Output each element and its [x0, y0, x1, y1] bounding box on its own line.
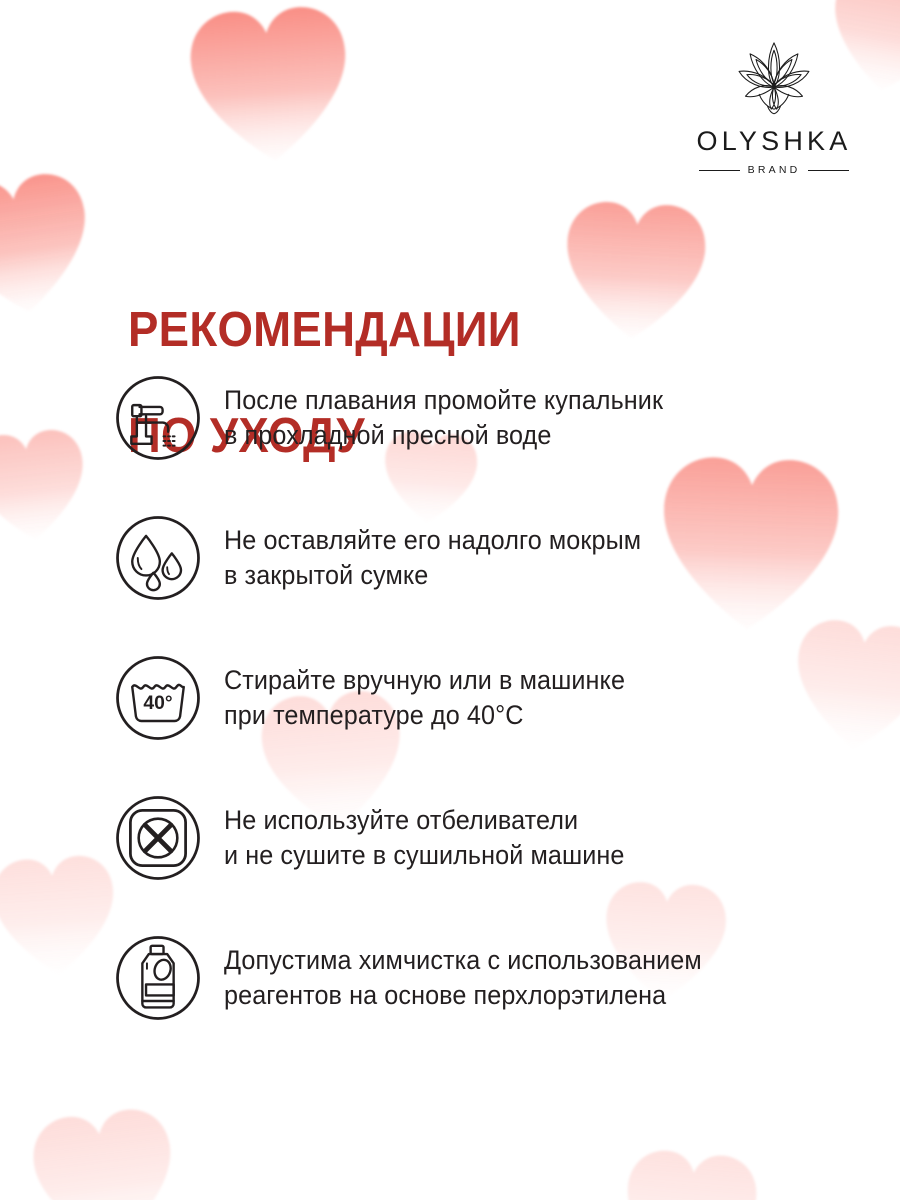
detergent-bottle-icon	[112, 932, 204, 1024]
water-droplets-icon	[112, 512, 204, 604]
care-instruction-row: 40°Стирайте вручную или в машинкепри тем…	[112, 648, 852, 748]
care-instruction-text: Стирайте вручную или в машинкепри темпер…	[224, 663, 625, 733]
care-instruction-line-2: в закрытой сумке	[224, 558, 641, 593]
care-instruction-row: Не оставляйте его надолго мокрымв закрыт…	[112, 508, 852, 608]
brand-wordmark: OLYSHKA	[697, 126, 852, 157]
care-instruction-line-1: Допустима химчистка с использованием	[224, 943, 702, 978]
care-instruction-line-2: в прохладной пресной воде	[224, 418, 663, 453]
care-instruction-text: Не используйте отбеливателии не сушите в…	[224, 803, 625, 873]
care-instruction-line-2: реагентов на основе перхлорэтилена	[224, 978, 702, 1013]
faucet-icon	[112, 372, 204, 464]
page-title-line-1: РЕКОМЕНДАЦИИ	[128, 304, 521, 357]
heart-left-mid-decoration	[0, 424, 96, 548]
tagline-rule-right	[808, 170, 849, 171]
care-instruction-line-1: Стирайте вручную или в машинке	[224, 663, 625, 698]
no-bleach-no-tumble-dry-icon	[112, 792, 204, 884]
care-instructions-page: OLYSHKA BRAND РЕКОМЕНДАЦИИ ПО УХОДУ Посл…	[0, 0, 900, 1200]
care-instruction-line-1: После плавания промойте купальник	[224, 383, 663, 418]
care-instruction-list: После плавания промойте купальникв прохл…	[112, 368, 852, 1028]
care-instruction-text: Не оставляйте его надолго мокрымв закрыт…	[224, 523, 641, 593]
heart-bottom-left-decoration	[22, 1101, 188, 1200]
svg-text:40°: 40°	[143, 693, 172, 714]
tagline-rule-left	[699, 170, 740, 171]
wash-tub-40-icon: 40°	[112, 652, 204, 744]
care-instruction-text: После плавания промойте купальникв прохл…	[224, 383, 663, 453]
care-instruction-row: Не используйте отбеливателии не сушите в…	[112, 788, 852, 888]
care-instruction-text: Допустима химчистка с использованиемреаг…	[224, 943, 702, 1013]
heart-left-low-decoration	[0, 851, 124, 982]
care-instruction-line-1: Не оставляйте его надолго мокрым	[224, 523, 641, 558]
care-instruction-row: Допустима химчистка с использованиемреаг…	[112, 928, 852, 1028]
care-instruction-row: После плавания промойте купальникв прохл…	[112, 368, 852, 468]
brand-logo: OLYSHKA BRAND	[684, 30, 864, 176]
heart-top-right-decoration	[556, 196, 713, 346]
heart-bottom-center-decoration	[615, 1144, 766, 1200]
heart-top-left-decoration	[0, 165, 104, 325]
care-instruction-line-2: и не сушите в сушильной машине	[224, 838, 625, 873]
heart-top-center-decoration	[181, 0, 360, 169]
care-instruction-line-1: Не используйте отбеливатели	[224, 803, 625, 838]
brand-tagline: BRAND	[748, 164, 801, 176]
brand-tagline-row: BRAND	[699, 164, 849, 176]
lotus-flower-icon	[728, 30, 820, 122]
care-instruction-line-2: при температуре до 40°С	[224, 698, 625, 733]
